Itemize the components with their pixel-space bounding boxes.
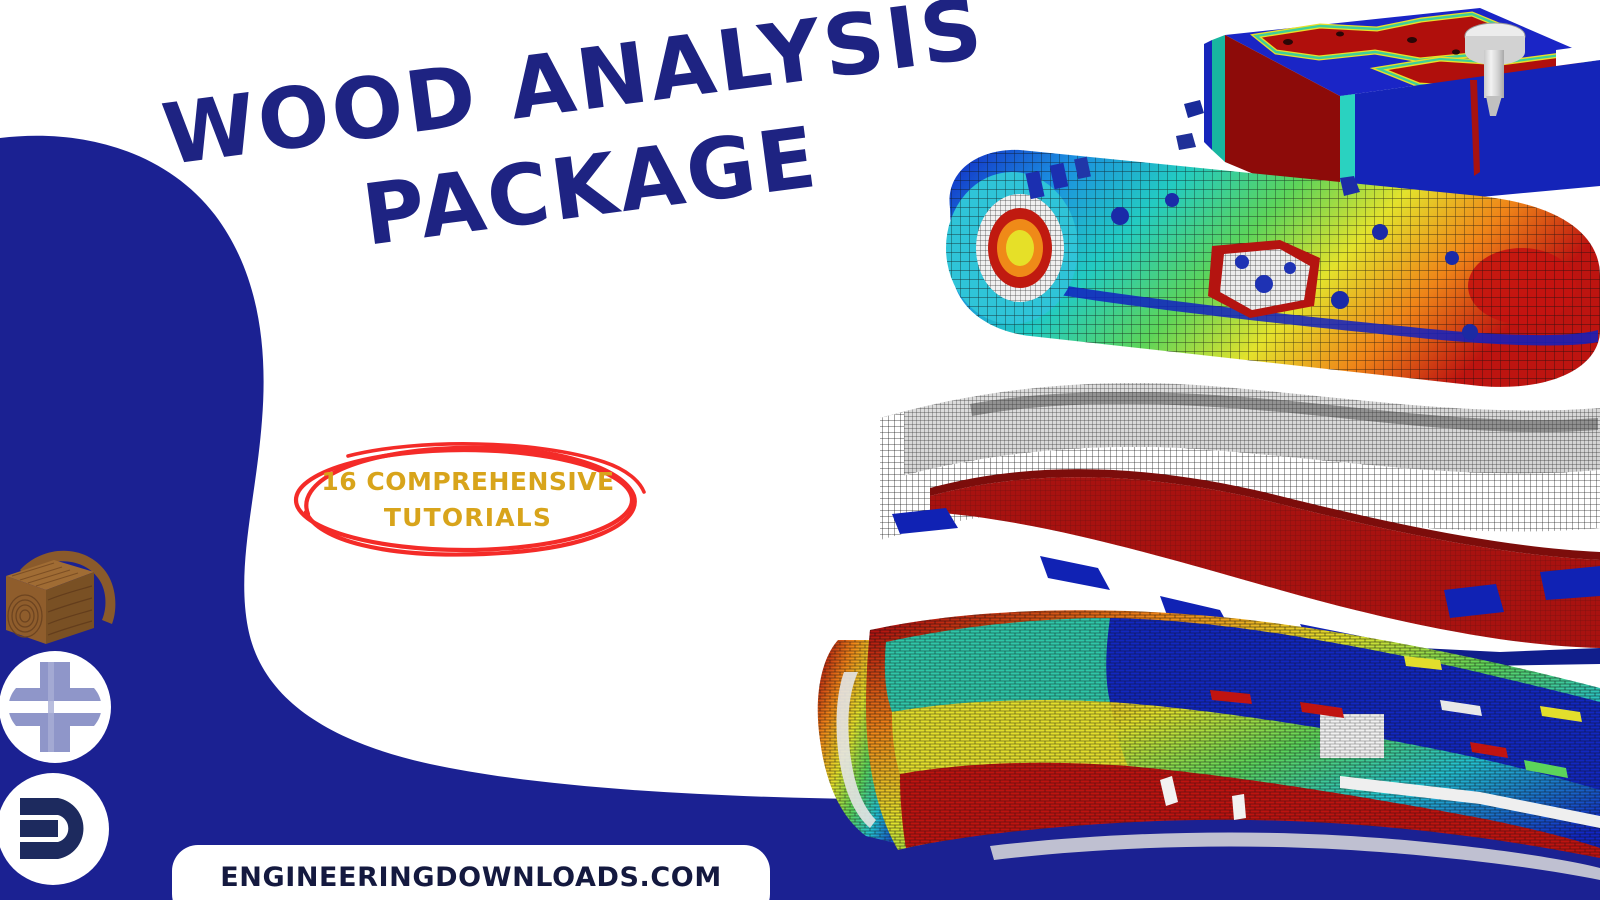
badge-text: 16 COMPREHENSIVE TUTORIALS <box>288 464 648 535</box>
fractured-timber-beam-fea <box>818 610 1600 880</box>
badge-line-2: TUTORIALS <box>288 500 648 536</box>
footer-website-pill[interactable]: ENGINEERINGDOWNLOADS.COM <box>172 845 770 900</box>
footer-website-text: ENGINEERINGDOWNLOADS.COM <box>172 862 770 893</box>
badge-line-1: 16 COMPREHENSIVE <box>288 464 648 500</box>
tutorial-count-badge: 16 COMPREHENSIVE TUTORIALS <box>288 440 648 560</box>
poster-canvas: WOOD ANALYSIS PACKAGE 16 COMPREHENSIVE T… <box>0 0 1600 900</box>
wood-block-icon <box>0 528 120 648</box>
bolt-head-icon <box>0 648 114 766</box>
icon-rail <box>0 520 130 890</box>
ed-logo-icon <box>0 770 112 888</box>
